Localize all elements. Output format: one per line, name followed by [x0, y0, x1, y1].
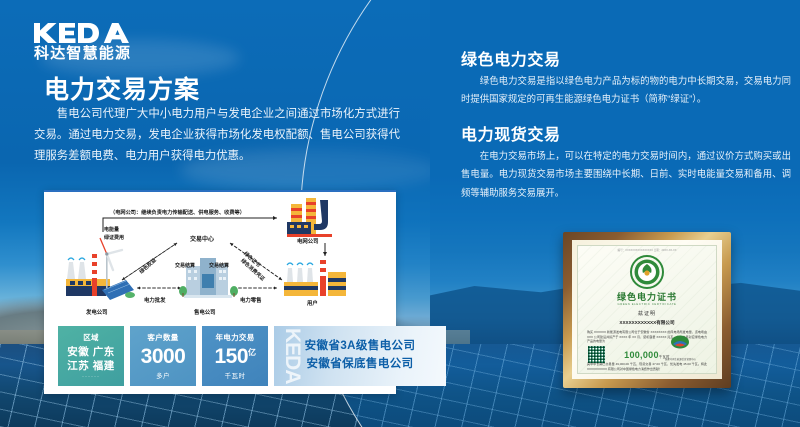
keda-wordmark-icon — [34, 22, 138, 44]
certificate-paper: 编号：XXXXXXXXXXXXXXXX 日期：20XX-XX-XX 绿色电力证书… — [577, 245, 717, 374]
stat-unit: 亿 — [248, 348, 256, 357]
stat-region-dots: ······ — [82, 374, 100, 380]
stat-card-customers: 客户数量 3000 多户 — [130, 326, 196, 386]
diagram-wholesale-label: 电力批发 — [144, 298, 166, 305]
diagram-node-user: 用户 — [307, 301, 318, 308]
diagram-center-title: 交易中心 — [190, 236, 214, 244]
keda-watermark: KEDA — [280, 328, 304, 384]
stat-value: 3000 — [141, 346, 186, 367]
icon-generator-plant — [66, 238, 135, 300]
diagram-top-note: （电网公司：继续负责电力传输配送、供电服务、收费等） — [110, 210, 245, 217]
icon-user-factory — [284, 260, 346, 296]
icon-grid-company-plant — [287, 198, 332, 237]
certificate-mat: 编号：XXXXXXXXXXXXXXXX 日期：20XX-XX-XX 绿色电力证书… — [572, 240, 722, 379]
diagram-retail-label: 电力零售 — [240, 298, 262, 305]
power-trading-flow-diagram: （电网公司：继续负责电力传输配送、供电服务、收费等） 电能量 绿证费用 交易中心… — [44, 194, 396, 320]
certificate-header-meta: 编号：XXXXXXXXXXXXXXXX 日期：20XX-XX-XX — [578, 248, 716, 252]
stat-card-region: 区域 安徽 广东 江苏 福建 ······ — [58, 326, 124, 386]
badge-line-1: 安徽省3A级售电公司 — [305, 338, 416, 356]
stat-subtext: 多户 — [156, 370, 170, 380]
certificate-certify-word: 兹证明 — [578, 310, 716, 317]
card-top-accent-bar — [44, 190, 396, 192]
certificate-body-2: 其中中长期已交易量 49,000.00 千瓦，现货交易 47.00 千瓦，优先发… — [587, 362, 707, 371]
section-title-spot-trading: 电力现货交易 — [461, 121, 561, 145]
stat-card-annual-trading: 年电力交易 150亿 千瓦时 — [202, 326, 268, 386]
qualification-badge: KEDA 安徽省3A级售电公司 安徽省保底售电公司 — [274, 326, 446, 386]
stat-value: 150亿 — [214, 346, 255, 367]
page-intro-paragraph: 售电公司代理广大中小电力用户与发电企业之间通过市场化方式进行交易。通过电力交易，… — [34, 104, 400, 167]
page-title: 电力交易方案 — [44, 70, 200, 106]
certificate-issuer-stamp: 国家可再生能源信息管理中心 — [665, 335, 696, 361]
badge-line-2: 安徽省保底售电公司 — [306, 356, 413, 374]
stat-region-line-2: 江苏 福建 — [67, 360, 114, 373]
stat-subtext: 千瓦时 — [225, 370, 246, 380]
section-title-green-power: 绿色电力交易 — [461, 46, 561, 70]
section-body-green-power: 绿色电力交易是指以绿色电力产品为标的物的电力中长期交易，交易电力同时提供国家规定… — [461, 72, 791, 109]
stats-strip: 区域 安徽 广东 江苏 福建 ······ 客户数量 3000 多户 年电力交易… — [58, 326, 446, 386]
certificate-seal-icon — [630, 255, 664, 289]
certificate-qr-code — [588, 346, 605, 363]
green-certificate-photo: 编号：XXXXXXXXXXXXXXXX 日期：20XX-XX-XX 绿色电力证书… — [563, 232, 731, 388]
section-body-spot-trading: 在电力交易市场上，可以在特定的电力交易时间内，通过议价方式购买或出售电量。电力现… — [461, 147, 791, 202]
diagram-node-retailer: 售电公司 — [194, 310, 216, 317]
diagram-settle-right: 交易结算 — [209, 263, 229, 270]
certificate-subtitle: GREEN ELECTRIC CERTIFICATE — [578, 302, 716, 306]
diagram-left-note-2: 绿证费用 — [104, 235, 124, 242]
brand-logo: 科达智慧能源 — [34, 22, 138, 61]
issuer-caption: 国家可再生能源信息管理中心 — [665, 357, 696, 361]
diagram-settle-left: 交易结算 — [175, 263, 195, 270]
stat-caption: 客户数量 — [147, 332, 178, 343]
slide-canvas: 科达智慧能源 电力交易方案 售电公司代理广大中小电力用户与发电企业之间通过市场化… — [0, 0, 800, 427]
diagram-left-note-1: 电能量 — [104, 227, 119, 234]
brand-name-cn: 科达智慧能源 — [34, 46, 138, 61]
stat-caption: 区域 — [83, 332, 99, 343]
certificate-frame: 编号：XXXXXXXXXXXXXXXX 日期：20XX-XX-XX 绿色电力证书… — [563, 232, 731, 388]
certificate-company: XXXXXXXXXXXX有限公司 — [578, 320, 716, 326]
stat-caption: 年电力交易 — [216, 332, 255, 343]
info-card: （电网公司：继续负责电力传输配送、供电服务、收费等） 电能量 绿证费用 交易中心… — [44, 190, 396, 394]
diagram-node-generator: 发电公司 — [86, 310, 108, 317]
issuer-logo-icon — [670, 335, 690, 351]
stat-region-line-1: 安徽 广东 — [67, 346, 114, 359]
diagram-node-grid: 电网公司 — [297, 239, 319, 246]
